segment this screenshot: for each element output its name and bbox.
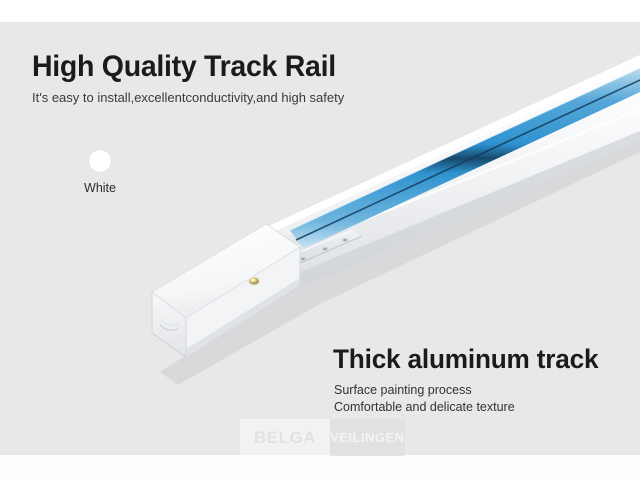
page-subtitle: It's easy to install,excellentconductivi… [32, 89, 344, 106]
color-swatch-label: White [76, 181, 124, 195]
bottom-white-band [0, 455, 640, 480]
top-white-band [0, 0, 640, 22]
watermark-brand: BELGA [240, 419, 330, 456]
watermark-suffix-text: VEILINGEN [330, 430, 405, 445]
screenshot-canvas: High Quality Track Rail It's easy to ins… [0, 0, 640, 480]
feature-heading: Thick aluminum track [333, 344, 598, 375]
background-panel [0, 22, 640, 455]
color-swatch[interactable]: White [76, 150, 124, 195]
feature-line-1: Surface painting process [334, 382, 472, 398]
feature-line-2: Comfortable and delicate texture [334, 399, 515, 415]
watermark-brand-text: BELGA [254, 428, 317, 448]
watermark: BELGA VEILINGEN [240, 419, 402, 456]
color-swatch-dot[interactable] [89, 150, 111, 172]
page-title: High Quality Track Rail [32, 50, 336, 84]
watermark-suffix: VEILINGEN [330, 419, 405, 456]
